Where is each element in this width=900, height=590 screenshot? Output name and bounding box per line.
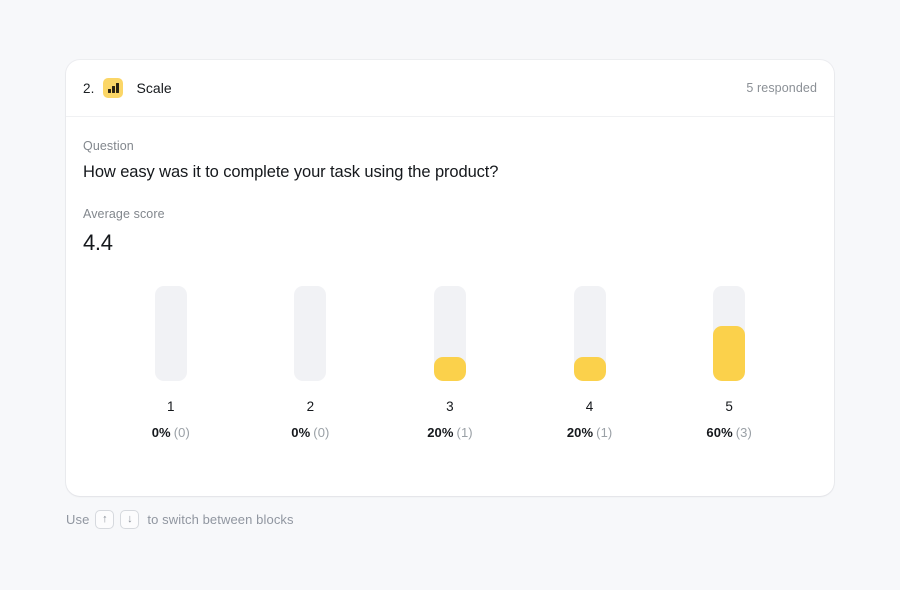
block-title: Scale — [136, 80, 171, 96]
card-body: Question How easy was it to complete you… — [66, 117, 834, 440]
bar-track[interactable] — [294, 286, 326, 381]
bar-scale-label: 3 — [446, 399, 454, 414]
card-header: 2. Scale 5 responded — [66, 60, 834, 117]
average-score-value: 4.4 — [83, 230, 817, 256]
bar-percent: 0% — [291, 425, 310, 440]
bar-count: (0) — [313, 425, 329, 440]
arrow-up-icon[interactable]: ↑ — [95, 510, 114, 529]
bar-percent: 20% — [427, 425, 453, 440]
average-score-label: Average score — [83, 207, 817, 221]
bar-chart-icon — [103, 78, 123, 98]
keyboard-hint: Use ↑ ↓ to switch between blocks — [66, 510, 294, 529]
question-label: Question — [83, 139, 817, 153]
bar-track[interactable] — [155, 286, 187, 381]
bar-stats: 60%(3) — [706, 425, 752, 440]
bar-fill — [574, 357, 606, 381]
bar-count: (1) — [596, 425, 612, 440]
question-text: How easy was it to complete your task us… — [83, 162, 817, 183]
bar-scale-label: 5 — [725, 399, 733, 414]
bar-track[interactable] — [434, 286, 466, 381]
bar-track[interactable] — [713, 286, 745, 381]
card-header-left: 2. Scale — [83, 78, 172, 98]
bar-scale-label: 1 — [167, 399, 175, 414]
responded-count: 5 responded — [746, 81, 817, 95]
chart-column: 2 0%(0) — [241, 286, 381, 440]
average-score-section: Average score 4.4 — [83, 207, 817, 256]
bar-stats: 0%(0) — [291, 425, 329, 440]
bar-track[interactable] — [574, 286, 606, 381]
chart-column: 1 0%(0) — [101, 286, 241, 440]
scale-result-card: 2. Scale 5 responded Question How easy w… — [66, 60, 834, 496]
chart-column: 3 20%(1) — [380, 286, 520, 440]
bar-count: (1) — [457, 425, 473, 440]
bar-count: (3) — [736, 425, 752, 440]
chart-column: 4 20%(1) — [520, 286, 660, 440]
bar-stats: 20%(1) — [567, 425, 613, 440]
bar-fill — [434, 357, 466, 381]
app-root: 2. Scale 5 responded Question How easy w… — [0, 0, 900, 590]
block-index: 2. — [83, 81, 94, 96]
arrow-down-icon[interactable]: ↓ — [120, 510, 139, 529]
bar-scale-label: 2 — [307, 399, 315, 414]
scale-distribution-chart: 1 0%(0) 2 0%(0) — [83, 286, 817, 440]
bar-count: (0) — [174, 425, 190, 440]
chart-column: 5 60%(3) — [659, 286, 799, 440]
bar-scale-label: 4 — [586, 399, 594, 414]
bar-percent: 20% — [567, 425, 593, 440]
bar-percent: 60% — [706, 425, 732, 440]
bar-fill — [713, 326, 745, 381]
bar-stats: 20%(1) — [427, 425, 473, 440]
hint-prefix: Use — [66, 512, 89, 527]
bar-percent: 0% — [152, 425, 171, 440]
bar-stats: 0%(0) — [152, 425, 190, 440]
hint-suffix: to switch between blocks — [147, 512, 293, 527]
